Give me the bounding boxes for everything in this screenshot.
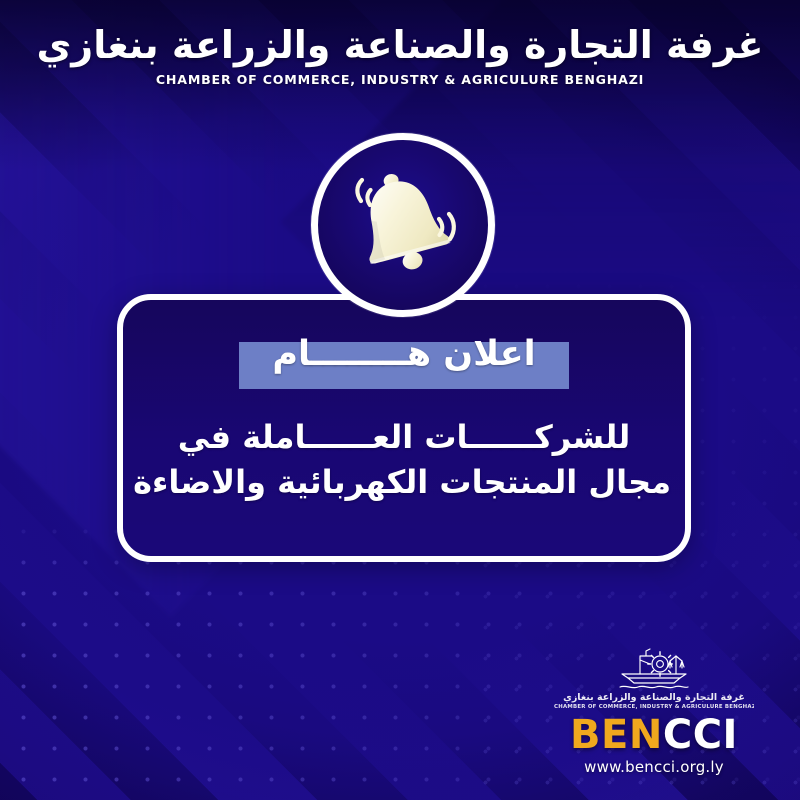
announcement-content: اعلان هــــــــام للشركــــــات العـــــ… [123, 300, 685, 556]
footer-crest-arabic: غرفة التجارة والصناعة والزراعة بنغازي [554, 693, 754, 703]
footer-crest-english: CHAMBER OF COMMERCE, INDUSTRY & AGRICULU… [554, 704, 754, 710]
footer-brand-cci: CCI [663, 712, 738, 758]
announcement-body: للشركــــــات العــــــاملة في مجال المن… [123, 415, 685, 506]
bell-icon [337, 159, 469, 291]
announcement-headline: اعلان هــــــــام [255, 337, 553, 372]
footer-website: www.bencci.org.ly [554, 758, 754, 776]
bencci-crest-icon [606, 642, 702, 692]
bell-medallion [311, 133, 495, 317]
footer-brand-wordmark: BENCCI [554, 715, 754, 755]
announcement-body-line-1: للشركــــــات العــــــاملة في [137, 415, 671, 460]
footer-brand-ben: BEN [570, 712, 663, 758]
header-logo-english: CHAMBER OF COMMERCE, INDUSTRY & AGRICULU… [0, 72, 800, 87]
announcement-poster: غرفة التجارة والصناعة والزراعة بنغازي CH… [0, 0, 800, 800]
header-logo-lockup: غرفة التجارة والصناعة والزراعة بنغازي CH… [0, 22, 800, 87]
announcement-frame: اعلان هــــــــام للشركــــــات العـــــ… [117, 294, 691, 562]
footer-brand-lockup: غرفة التجارة والصناعة والزراعة بنغازي CH… [554, 642, 754, 776]
header-logo-arabic: غرفة التجارة والصناعة والزراعة بنغازي [0, 22, 800, 68]
announcement-headline-band: اعلان هــــــــام [239, 342, 569, 389]
announcement-body-line-2: مجال المنتجات الكهربائية والاضاءة [137, 460, 671, 505]
